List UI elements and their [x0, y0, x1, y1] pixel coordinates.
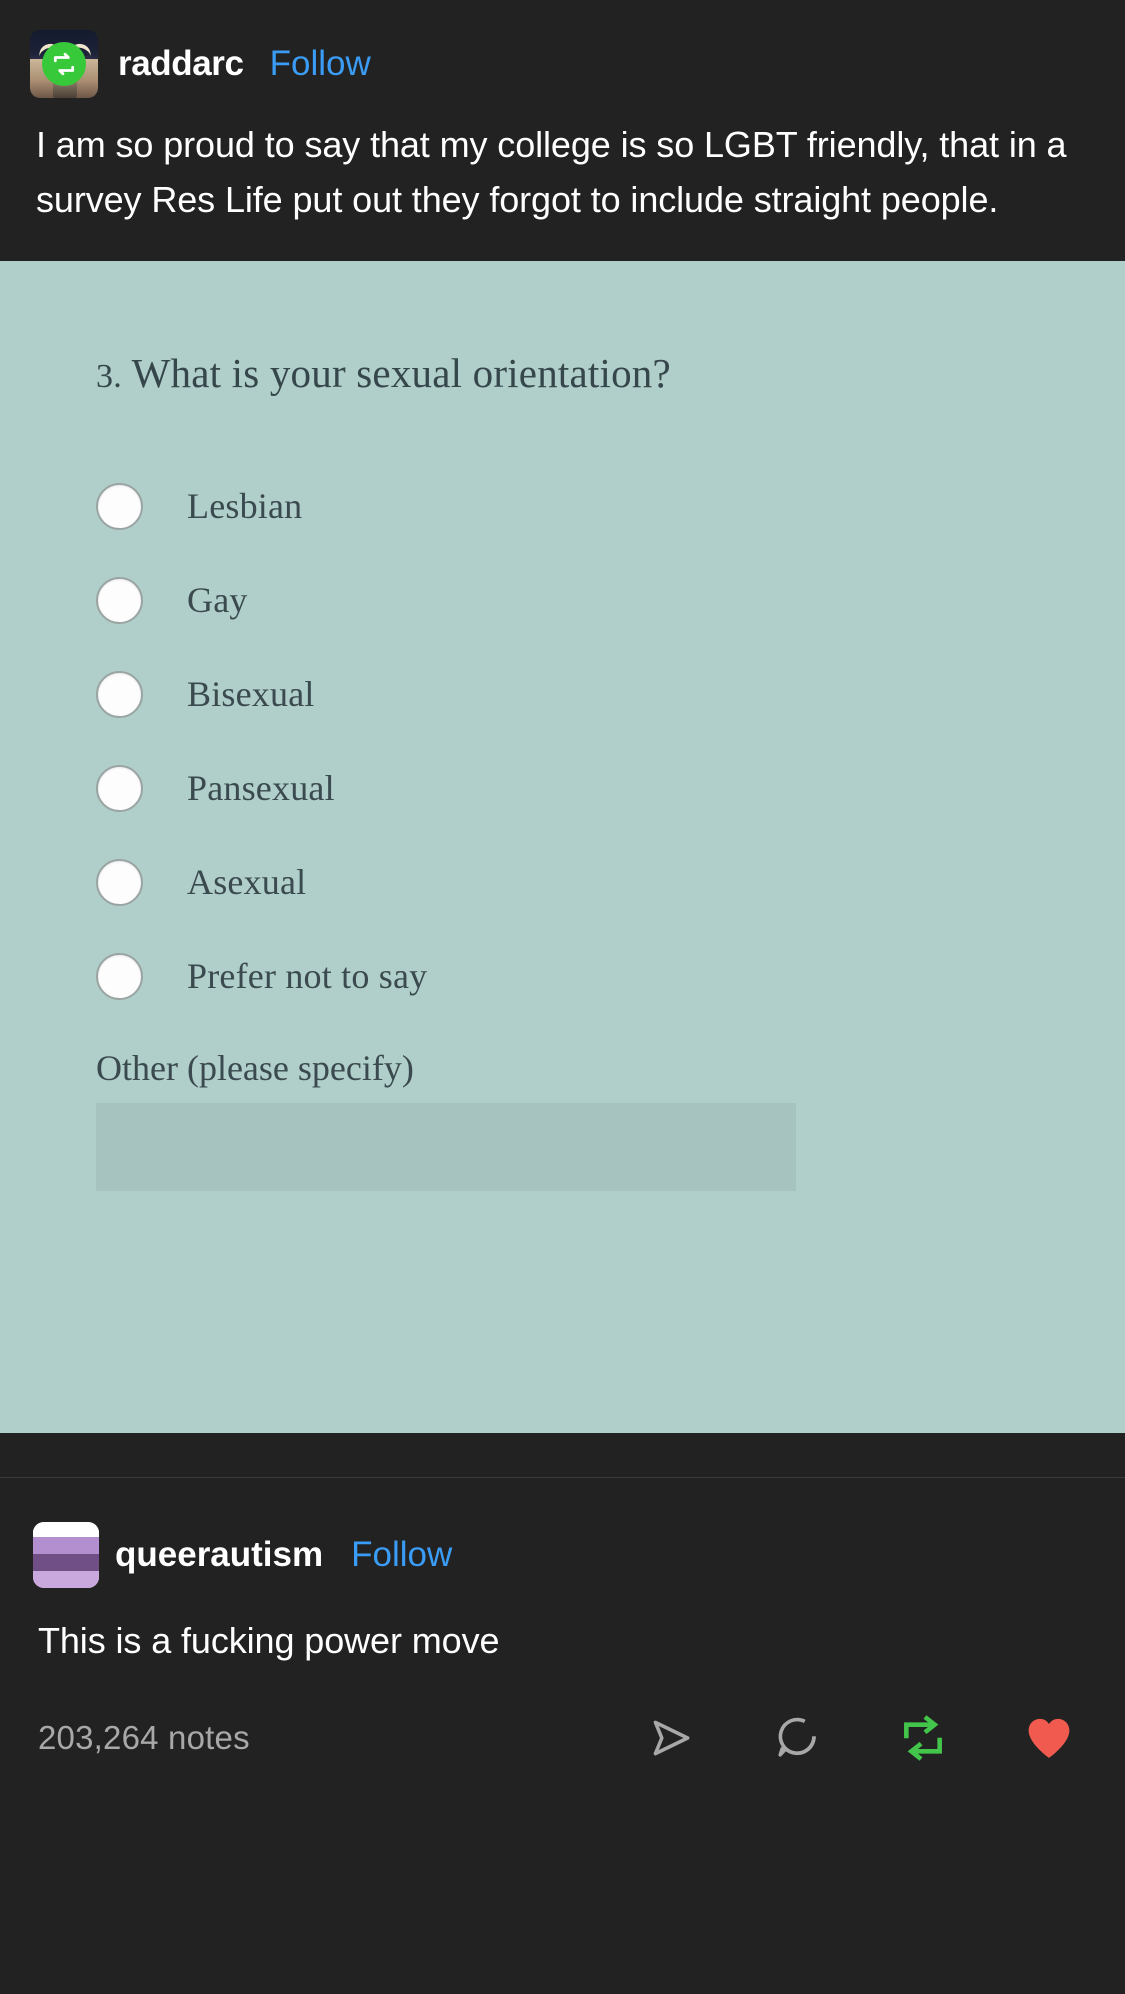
survey-option[interactable]: Bisexual [0, 647, 1125, 741]
username[interactable]: queerautism [115, 1535, 323, 1575]
survey-screenshot: 3. What is your sexual orientation? Lesb… [0, 261, 1125, 1433]
option-label: Lesbian [187, 485, 302, 527]
option-label: Gay [187, 579, 248, 621]
radio-button[interactable] [96, 953, 143, 1000]
survey-options: Lesbian Gay Bisexual Pansexual Asexual P… [0, 459, 1125, 1023]
follow-button[interactable]: Follow [351, 1535, 452, 1575]
survey-option[interactable]: Pansexual [0, 741, 1125, 835]
survey-option[interactable]: Prefer not to say [0, 929, 1125, 1023]
avatar[interactable] [33, 1522, 99, 1588]
other-input[interactable] [96, 1103, 796, 1191]
section-gap [0, 1433, 1125, 1477]
option-label: Prefer not to say [187, 955, 427, 997]
post-text: I am so proud to say that my college is … [0, 100, 1125, 261]
question-number: 3. [96, 358, 122, 395]
reply-icon[interactable] [771, 1712, 823, 1764]
radio-button[interactable] [96, 577, 143, 624]
share-icon[interactable] [645, 1712, 697, 1764]
reblog-icon[interactable] [897, 1712, 949, 1764]
radio-button[interactable] [96, 483, 143, 530]
like-heart-icon[interactable] [1023, 1712, 1075, 1764]
radio-button[interactable] [96, 765, 143, 812]
survey-question: 3. What is your sexual orientation? [0, 349, 1125, 397]
question-text: What is your sexual orientation? [132, 350, 671, 396]
notes-count[interactable]: 203,264 notes [38, 1719, 250, 1757]
post-footer: 203,264 notes [0, 1668, 1125, 1764]
tumblr-post: raddarc Follow I am so proud to say that… [0, 0, 1125, 1994]
radio-button[interactable] [96, 671, 143, 718]
radio-button[interactable] [96, 859, 143, 906]
follow-button[interactable]: Follow [270, 44, 371, 84]
post-header-raddarc: raddarc Follow [0, 0, 1125, 100]
reblog-icon [42, 42, 86, 86]
other-label: Other (please specify) [0, 1047, 1125, 1089]
action-buttons [645, 1712, 1095, 1764]
option-label: Bisexual [187, 673, 315, 715]
username[interactable]: raddarc [118, 44, 244, 84]
post-header-queerautism: queerautism Follow [0, 1478, 1125, 1588]
survey-option[interactable]: Asexual [0, 835, 1125, 929]
option-label: Pansexual [187, 767, 335, 809]
reblog-text: This is a fucking power move [0, 1588, 1125, 1668]
survey-option[interactable]: Lesbian [0, 459, 1125, 553]
chevron-stripe [33, 1571, 99, 1588]
survey-option[interactable]: Gay [0, 553, 1125, 647]
option-label: Asexual [187, 861, 306, 903]
